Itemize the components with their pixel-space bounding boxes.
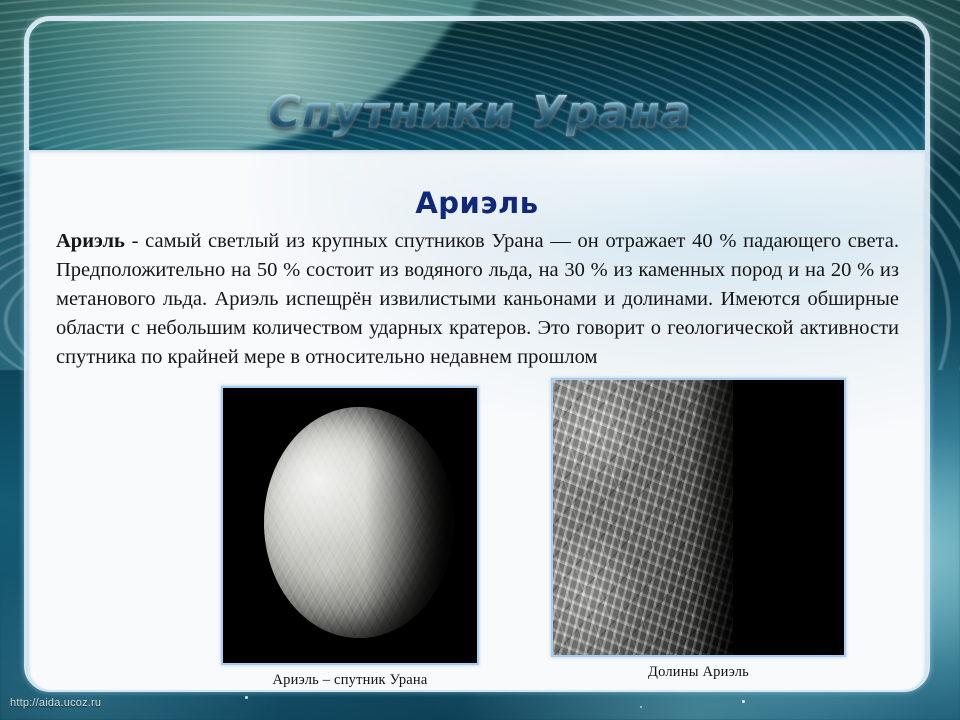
valley-scene <box>553 380 844 655</box>
body-paragraph-text: - самый светлый из крупных спутников Ура… <box>56 230 899 368</box>
section-title: Ариэль <box>29 186 925 220</box>
figure-ariel-valleys: Долины Ариэль <box>551 378 846 681</box>
content-panel: Ариэль Ариэль - самый светлый из крупных… <box>29 150 925 690</box>
figure-ariel-moon: Ариэль – спутник Урана <box>221 386 479 689</box>
slide-title: Спутники Урана <box>0 87 960 138</box>
figure-caption: Ариэль – спутник Урана <box>221 672 479 689</box>
body-lead-term: Ариэль <box>56 230 125 252</box>
presentation-slide: Спутники Урана Ариэль Ариэль - самый све… <box>0 0 960 720</box>
watermark-url: http://aida.ucoz.ru <box>10 697 101 709</box>
valley-terminator-shadow <box>693 380 844 655</box>
ariel-valleys-image <box>551 378 846 657</box>
moon-scene <box>223 388 477 663</box>
figure-caption: Долины Ариэль <box>551 664 846 681</box>
ariel-moon-image <box>221 386 479 665</box>
body-paragraph: Ариэль - самый светлый из крупных спутни… <box>56 227 899 373</box>
moon-terminator-shadow <box>365 386 479 665</box>
